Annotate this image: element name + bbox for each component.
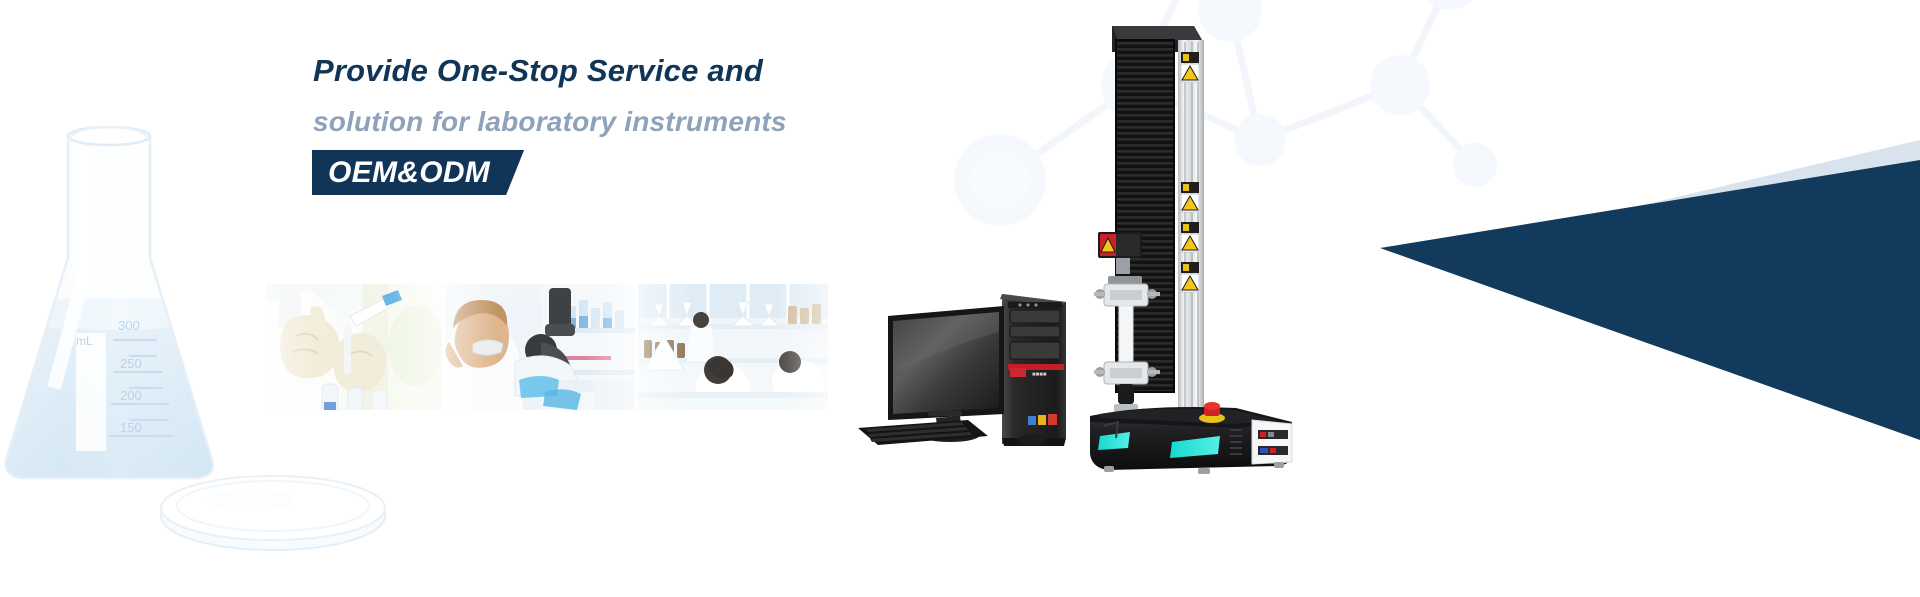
lab-photo-pipetting — [266, 284, 442, 410]
flask-graduation-300: 300 — [118, 318, 140, 333]
badge-label: OEM&ODM — [312, 150, 524, 195]
headline-line-1: Provide One-Stop Service and — [313, 55, 1073, 86]
svg-text:■■■■: ■■■■ — [1032, 372, 1047, 378]
headline-line-2: solution for laboratory instruments — [313, 108, 1073, 136]
universal-tensile-testing-machine — [1086, 18, 1301, 478]
lab-photo-microscope — [445, 284, 635, 410]
desktop-computer-set: ■■■■ — [852, 288, 1082, 448]
lab-photo-laboratory — [638, 284, 828, 410]
arrow-accent-graphic — [1200, 140, 1920, 440]
flask-graduation-250: 250 — [120, 356, 142, 371]
arrow-light-shape — [1450, 140, 1920, 290]
flask-graduation-200: 200 — [120, 388, 142, 403]
glassware-group: 300 250 200 150 mL — [0, 108, 290, 508]
oem-odm-badge: OEM&ODM — [312, 150, 524, 195]
lab-photo-strip — [266, 284, 828, 410]
arrow-dark-shape — [1380, 160, 1920, 440]
flask-unit-label: mL — [76, 334, 93, 348]
flask-graduation-150: 150 — [120, 420, 142, 435]
hero-banner: 300 250 200 150 mL Provide One-Stop Serv… — [0, 0, 1920, 597]
headline-block: Provide One-Stop Service and solution fo… — [313, 55, 1073, 136]
erlenmeyer-flask: 300 250 200 150 mL — [0, 108, 230, 488]
